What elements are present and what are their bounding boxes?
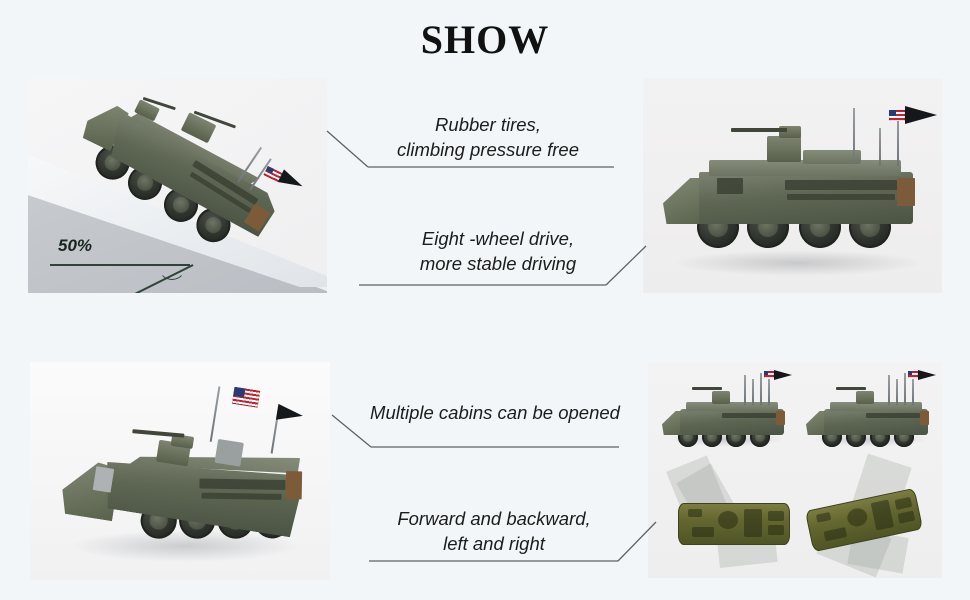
- side-hatch: [717, 178, 743, 194]
- pennant-flag-icon: [774, 370, 792, 380]
- detail-cell-side-view-left: [656, 369, 796, 455]
- turret-ring: [718, 511, 738, 529]
- connector-diagonal: [332, 415, 371, 447]
- antenna: [760, 373, 762, 405]
- vehicle-top-view: [678, 503, 790, 545]
- side-slat: [866, 413, 920, 418]
- hatch: [768, 525, 784, 535]
- three-quarter-scene: [30, 362, 330, 580]
- hatch: [895, 497, 913, 510]
- detail-cell-side-view-right: [800, 369, 940, 455]
- side-slat: [787, 194, 895, 200]
- pennant-flag-icon: [918, 370, 936, 380]
- hatch: [816, 512, 831, 523]
- antenna: [888, 375, 890, 405]
- antenna: [897, 116, 899, 166]
- us-flag-icon: [232, 387, 260, 408]
- rear-panel: [214, 439, 243, 467]
- vehicle-mini-side: [804, 383, 936, 453]
- product-feature-showcase: SHOW 50%: [0, 0, 970, 600]
- connector-rubber-tires: [326, 128, 616, 176]
- antenna: [896, 379, 898, 405]
- side-view-scene: [643, 78, 942, 293]
- turret: [712, 391, 730, 404]
- hull-deck: [686, 402, 778, 411]
- connector-forward-backward: [368, 516, 658, 568]
- photo-vehicle-three-quarter-view: [30, 362, 330, 580]
- gun-barrel: [692, 387, 722, 390]
- antenna: [904, 373, 906, 405]
- hatch: [692, 527, 714, 537]
- antenna: [853, 108, 855, 164]
- stowage-box: [897, 178, 915, 206]
- connector-diagonal: [606, 246, 646, 285]
- gun-barrel: [132, 429, 184, 438]
- detail-cell-top-view-right: [800, 459, 940, 571]
- hatch: [768, 511, 784, 521]
- antenna: [752, 379, 754, 405]
- side-slat: [199, 478, 285, 489]
- gun-barrel: [731, 128, 787, 132]
- turret: [856, 391, 874, 404]
- slope-scene: 50%: [28, 78, 327, 293]
- antenna: [912, 379, 914, 405]
- connector-eight-wheel-drive: [358, 240, 648, 292]
- pennant-flag-icon: [276, 404, 304, 424]
- us-flag-icon: [889, 110, 905, 121]
- photo-vehicle-side-view: [643, 78, 942, 293]
- vehicle-mini-side: [660, 383, 792, 453]
- side-slat: [785, 180, 897, 190]
- antenna: [744, 375, 746, 405]
- antenna: [768, 379, 770, 405]
- angle-arc-icon: [158, 252, 186, 280]
- photo-vehicle-climbing-slope: 50%: [28, 78, 327, 293]
- photo-vehicle-detail-grid: [648, 363, 942, 578]
- connector-diagonal: [327, 131, 368, 167]
- hull-deck: [830, 402, 922, 411]
- pennant-flag-icon: [278, 169, 306, 192]
- trim-vane: [93, 466, 115, 493]
- stowage-box: [776, 411, 785, 425]
- us-flag-icon: [908, 371, 918, 378]
- antenna: [210, 386, 220, 442]
- turret: [767, 136, 801, 162]
- hatch: [744, 509, 762, 537]
- connector-diagonal: [618, 522, 656, 561]
- vehicle-side: [657, 122, 929, 262]
- gun-barrel: [836, 387, 866, 390]
- hatch: [688, 509, 702, 517]
- hatch: [871, 500, 894, 531]
- stowage-box: [920, 411, 929, 425]
- detail-cell-top-view-left: [656, 459, 796, 571]
- page-title: SHOW: [0, 16, 970, 63]
- connector-multiple-cabins: [331, 414, 621, 452]
- pennant-flag-icon: [905, 106, 937, 124]
- slope-percentage-label: 50%: [58, 236, 92, 256]
- stowage-box: [286, 471, 302, 499]
- us-flag-icon: [764, 371, 774, 378]
- hatch: [897, 511, 915, 524]
- antenna: [879, 128, 881, 166]
- hatch: [824, 527, 848, 541]
- detail-grid-scene: [648, 363, 942, 578]
- turret-ring: [846, 506, 869, 528]
- side-slat: [722, 413, 776, 418]
